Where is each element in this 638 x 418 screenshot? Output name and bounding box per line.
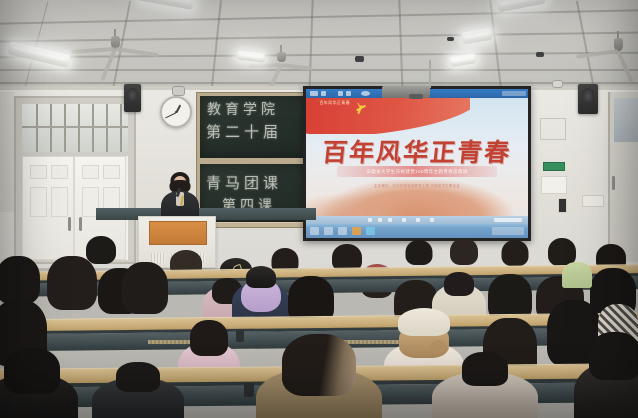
slide-main-title: 百年风华正青春 (306, 133, 528, 169)
ceiling-sensor (355, 56, 364, 62)
ceiling-light (237, 50, 266, 62)
student-foreground-brown-coat (254, 334, 384, 418)
lecture-hall-photo: 教育学院 第二十届 青马团课 第四课 百年风华正青春 百年风华正青 (0, 0, 638, 418)
ceiling-sensor (536, 52, 544, 57)
ceiling-light (461, 27, 493, 44)
slide-subtitle: 安徽省大学生庆祝建党100周年主题青春思政课 (366, 169, 468, 175)
wall-frame-diagram (540, 118, 566, 140)
door-handle[interactable] (79, 217, 82, 231)
ceiling-light (137, 0, 194, 10)
student (44, 256, 100, 314)
side-door-handle[interactable] (612, 176, 615, 190)
student-foreground-midright (430, 352, 540, 418)
slide-control-bar[interactable] (306, 216, 528, 224)
student (448, 238, 480, 268)
slide-hill-graphic-2 (306, 194, 406, 218)
wall-camera (172, 86, 185, 96)
blackboard-text-line3: 青马团课 (206, 172, 282, 193)
party-emblem-icon (355, 103, 369, 115)
exit-sign-icon (543, 162, 565, 171)
presenter (158, 172, 202, 220)
wall-camera-right (552, 80, 563, 88)
ceiling-projector (400, 60, 460, 98)
student (404, 240, 434, 268)
wall-notice-poster (541, 176, 567, 194)
student-foreground-dark (0, 348, 80, 418)
desk-knob (244, 383, 254, 397)
student-foreground-right (572, 332, 638, 418)
projector-lens (409, 94, 423, 99)
wall-clock (160, 96, 192, 128)
student-foreground-left (90, 362, 186, 418)
ceiling (0, 0, 638, 96)
slide-banner-small-text: 百年风华正青春 (319, 100, 350, 106)
transom-window (22, 104, 128, 152)
left-wall-panel (0, 92, 14, 212)
student-green-top (560, 258, 594, 288)
ceiling-sensor (447, 37, 454, 41)
student (120, 262, 170, 318)
windows-taskbar[interactable] (306, 224, 528, 238)
projection-screen: 百年风华正青春 百年风华正青春 安徽省大学生庆祝建党100周年主题青春思政课 主… (303, 86, 531, 241)
beret (398, 308, 450, 336)
ceiling-light (7, 41, 70, 68)
wall-speaker-right (578, 84, 598, 114)
blackboard-text-line2: 第二十届 (206, 121, 282, 142)
slide-subtitle-banner: 安徽省大学生庆祝建党100周年主题青春思政课 (337, 166, 497, 177)
wall-notice-small (558, 198, 567, 213)
lectern-front-panel (149, 221, 207, 245)
door-handle[interactable] (68, 217, 71, 231)
blackboard-text-line1: 教育学院 (207, 99, 279, 119)
wall-speaker-left (124, 84, 141, 112)
wall-plaque (582, 195, 604, 207)
side-door-window (614, 98, 638, 142)
